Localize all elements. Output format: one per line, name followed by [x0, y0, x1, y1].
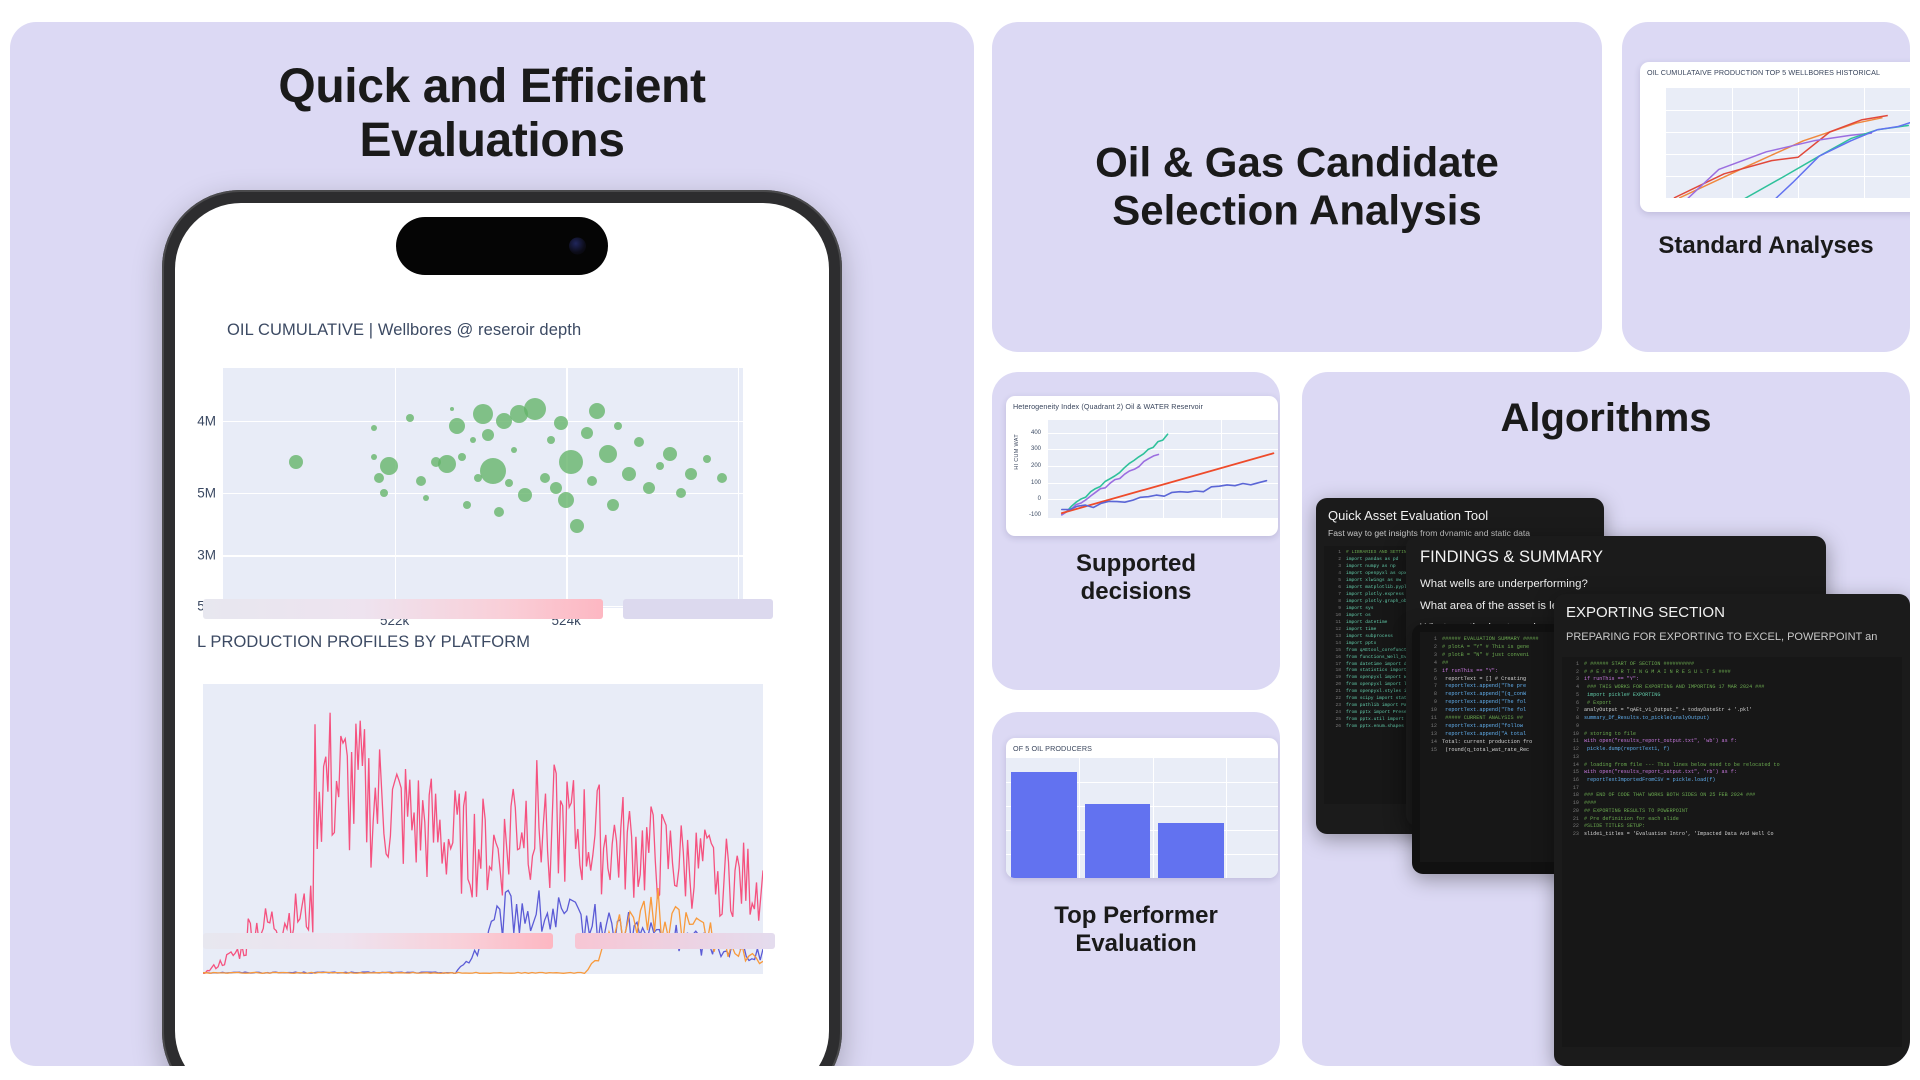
bubble-point: [587, 476, 597, 486]
bubble-point: [473, 404, 493, 424]
bubble-point: [570, 519, 584, 533]
code-line: 20## EXPORTING RESULTS TO POWERPOINT: [1562, 808, 1902, 816]
y-tick-1: 5M: [197, 485, 216, 500]
bubble-point: [599, 445, 617, 463]
bubble-point: [614, 422, 622, 430]
gradient-strip-2: [623, 599, 773, 619]
code-line: 3if runThis == "Y":: [1562, 676, 1902, 684]
sup-y-tick-1: 300: [1031, 446, 1041, 452]
topperformer-plot-area: [1006, 758, 1278, 878]
bubble-point: [634, 437, 644, 447]
bubble-point: [480, 458, 506, 484]
phone-mockup: OIL CUMULATIVE | Wellbores @ reseroir de…: [162, 190, 842, 1066]
bubble-point: [374, 473, 384, 483]
code-line: 21# Pre definition for each slide: [1562, 816, 1902, 824]
gradient-strip-3: [203, 933, 553, 949]
code-line: 15with open("results_report_output.txt",…: [1562, 769, 1902, 777]
bubble-point: [559, 450, 583, 474]
code-line: 18### END OF CODE THAT WORKS BOTH SIDES …: [1562, 792, 1902, 800]
algorithms-card: Algorithms Quick Asset Evaluation Tool F…: [1302, 372, 1910, 1066]
bubble-point: [449, 418, 465, 434]
bubble-point: [380, 489, 388, 497]
code-line: 17: [1562, 785, 1902, 793]
bubble-point: [581, 427, 593, 439]
bubble-point: [470, 437, 476, 443]
findings-question: What wells are underperforming?: [1420, 578, 1826, 590]
bubble-point: [371, 425, 377, 431]
bubble-point: [511, 447, 517, 453]
bubble-point: [547, 436, 555, 444]
standard-lines: [1666, 88, 1910, 198]
bubble-point: [540, 473, 550, 483]
tool-title: Quick Asset Evaluation Tool: [1316, 498, 1604, 523]
production-chart-title: L PRODUCTION PROFILES BY PLATFORM: [197, 633, 829, 652]
sup-y-tick-0: 400: [1031, 430, 1041, 436]
bubble-point: [607, 499, 619, 511]
bar-2: [1158, 823, 1223, 878]
supported-chart-title: Heterogeneity Index (Quadrant 2) Oil & W…: [1006, 396, 1278, 411]
code-line: 5 import pickle# EXPORTING: [1562, 692, 1902, 700]
bubble-point: [505, 479, 513, 487]
bubble-point: [717, 473, 727, 483]
production-chart-block: L PRODUCTION PROFILES BY PLATFORM: [175, 633, 829, 974]
top-performer-card: OF 5 OIL PRODUCERS Top Performer Evaluat…: [992, 712, 1280, 1066]
standard-caption: Standard Analyses: [1622, 232, 1910, 260]
sup-y-tick-5: -100: [1029, 512, 1041, 518]
bubble-point: [663, 447, 677, 461]
standard-line: [1679, 118, 1882, 198]
code-line: 19####: [1562, 800, 1902, 808]
code-line: 10# storing to file: [1562, 731, 1902, 739]
exporting-subtitle: PREPARING FOR EXPORTING TO EXCEL, POWERP…: [1554, 621, 1910, 643]
supported-y-axis-label: HI CUM WAT: [1014, 434, 1020, 470]
phone-notch: [396, 217, 608, 275]
gradient-strip-4: [575, 933, 775, 949]
code-line: 4 ### THIS WORKS FOR EXPORTING AND IMPOR…: [1562, 684, 1902, 692]
bubble-point: [685, 468, 697, 480]
supported-decisions-card: Heterogeneity Index (Quadrant 2) Oil & W…: [992, 372, 1280, 690]
topperformer-mini-chart: OF 5 OIL PRODUCERS: [1006, 738, 1278, 878]
hero-card: Quick and Efficient Evaluations OIL CUMU…: [10, 22, 974, 1066]
supported-caption: Supported decisions: [992, 550, 1280, 606]
production-line: [203, 888, 763, 973]
code-line: 14# loading from file --- This lines bel…: [1562, 762, 1902, 770]
standard-plot-area: [1666, 88, 1910, 198]
sup-y-tick-4: 0: [1038, 496, 1041, 502]
hero-title: Quick and Efficient Evaluations: [10, 60, 974, 168]
headline-card: Oil & Gas Candidate Selection Analysis: [992, 22, 1602, 352]
y-tick-2: 3M: [197, 548, 216, 563]
code-line: 9: [1562, 723, 1902, 731]
standard-chart-title: OIL CUMULATAIVE PRODUCTION TOP 5 WELLBOR…: [1640, 62, 1910, 77]
bubble-point: [643, 482, 655, 494]
bubble-point: [589, 403, 605, 419]
code-line: 1# ###### START OF SECTION ##########: [1562, 661, 1902, 669]
algorithms-title: Algorithms: [1302, 396, 1910, 441]
bubble-point: [494, 507, 504, 517]
code-line: 7analyOutput = "qAEt_v1_Output_" + today…: [1562, 707, 1902, 715]
gradient-strip-1: [203, 599, 603, 619]
headline-title: Oil & Gas Candidate Selection Analysis: [992, 139, 1602, 236]
poster-board: Quick and Efficient Evaluations OIL CUMU…: [0, 0, 1920, 1080]
exporting-code-block: 1# ###### START OF SECTION ##########2# …: [1562, 657, 1902, 1047]
code-line: 13: [1562, 754, 1902, 762]
bubble-point: [438, 455, 456, 473]
supported-lines: [1048, 420, 1278, 518]
bubble-point: [496, 413, 512, 429]
bubble-point: [482, 429, 494, 441]
code-line: 8summary_Df_Results.to_pickle(analyOutpu…: [1562, 715, 1902, 723]
topperformer-caption: Top Performer Evaluation: [992, 902, 1280, 958]
standard-mini-chart: OIL CUMULATAIVE PRODUCTION TOP 5 WELLBOR…: [1640, 62, 1910, 212]
bubble-point: [463, 501, 471, 509]
code-line: 2# # E X P O R T I N G M A I N R E S U L…: [1562, 669, 1902, 677]
standard-analyses-card: OIL CUMULATAIVE PRODUCTION TOP 5 WELLBOR…: [1622, 22, 1910, 352]
bubble-point: [423, 495, 429, 501]
code-line: 6 # Export: [1562, 700, 1902, 708]
bubble-point: [676, 488, 686, 498]
bar-1: [1085, 804, 1150, 878]
bubble-point: [554, 416, 568, 430]
bubble-point: [416, 476, 426, 486]
production-plot-area: [203, 684, 763, 974]
code-line: 22#SLIDE TITLES SETUP:: [1562, 823, 1902, 831]
heterogeneity-line: [1062, 434, 1168, 514]
exporting-title: EXPORTING SECTION: [1554, 594, 1910, 621]
bubble-point: [656, 462, 664, 470]
findings-title: FINDINGS & SUMMARY: [1420, 548, 1826, 567]
bubble-point: [371, 454, 377, 460]
bubble-point: [458, 453, 466, 461]
code-line: 11with open("results_report_output.txt",…: [1562, 738, 1902, 746]
code-line: 23slide1_titles = 'Evaluation Intro', 'I…: [1562, 831, 1902, 839]
phone-screen: OIL CUMULATIVE | Wellbores @ reseroir de…: [175, 203, 829, 1066]
bubble-point: [550, 482, 562, 494]
bubble-point: [450, 407, 454, 411]
y-tick-0: 4M: [197, 413, 216, 428]
bubble-point: [703, 455, 711, 463]
code-line: 12 pickle.dump(reportText1, f): [1562, 746, 1902, 754]
bubble-chart-block: OIL CUMULATIVE | Wellbores @ reseroir de…: [175, 321, 829, 608]
bubble-point: [622, 467, 636, 481]
topperformer-chart-title: OF 5 OIL PRODUCERS: [1006, 738, 1278, 753]
exporting-panel: EXPORTING SECTION PREPARING FOR EXPORTIN…: [1554, 594, 1910, 1066]
production-lines: [203, 684, 763, 974]
supported-mini-chart: Heterogeneity Index (Quadrant 2) Oil & W…: [1006, 396, 1278, 536]
sup-y-tick-2: 200: [1031, 463, 1041, 469]
supported-plot-area: 400 300 200 100 0 -100: [1048, 420, 1278, 518]
code-line: 16 reportTextImportedFromCSV = pickle.lo…: [1562, 777, 1902, 785]
heterogeneity-line: [1062, 455, 1159, 515]
camera-icon: [569, 238, 586, 255]
sup-y-tick-3: 100: [1031, 480, 1041, 486]
bubble-chart-title: OIL CUMULATIVE | Wellbores @ reseroir de…: [227, 321, 829, 340]
bubble-point: [518, 488, 532, 502]
bubble-point: [289, 455, 303, 469]
bubble-point: [524, 398, 546, 420]
bubble-point: [380, 457, 398, 475]
bubble-point: [558, 492, 574, 508]
bubble-plot-area: 4M 5M 3M 5M 522k 524k: [223, 368, 743, 608]
bubble-point: [406, 414, 414, 422]
bar-0: [1011, 772, 1076, 878]
